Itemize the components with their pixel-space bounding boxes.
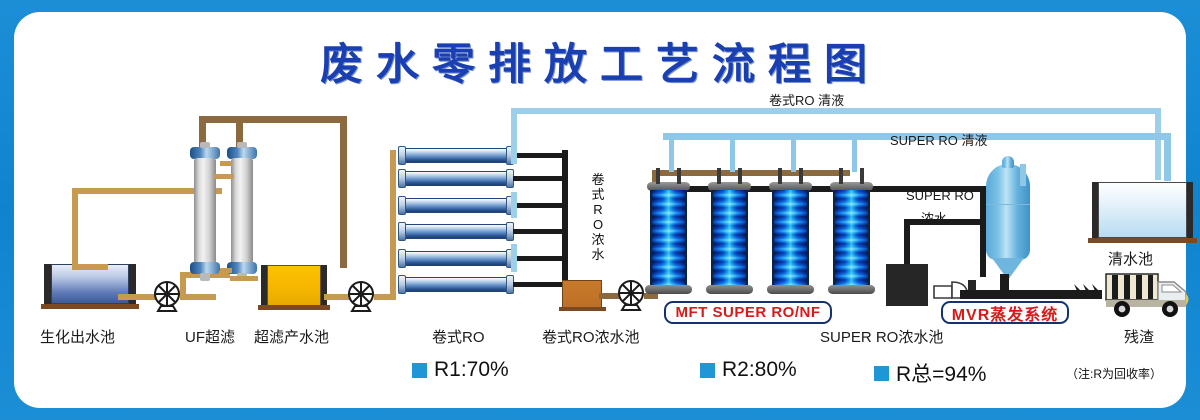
ro-endcap-left-5 [398,249,406,268]
legend-swatch-r2 [700,363,715,378]
uf-column-1-body [194,158,216,264]
feed-pipe-ro-riser [390,150,396,300]
dt-stack-1-port-right [677,168,681,184]
clear-tank-wall-right [1186,182,1193,240]
arrow-to-truck-icon [1072,282,1102,300]
ro-permeate-collector-2 [511,192,517,218]
uf-recycle-pipe-drop [72,188,78,270]
super-ro-brine-tank-body [886,264,928,306]
ro-brine-branch-5 [513,256,565,261]
pump-icon-3 [614,279,648,311]
pipe-label-super-ro-permeate: SUPER RO 清液 [890,130,988,149]
pump-icon-1 [150,280,184,312]
label-uf-product-water-tank: 超滤产水池 [254,326,329,347]
dt-stack-4-port-right [860,168,864,184]
dt-stack-2-body [711,190,748,286]
dt-permeate-riser-4 [852,138,857,172]
uf-product-water-tank-body [267,265,321,306]
callout-mvr-evaporator: MVR蒸发系统 [941,301,1069,324]
ro-brine-manifold-vertical [562,150,568,290]
dt-membrane-stack-4 [830,182,873,294]
dt-stack-3-port-left [778,168,782,184]
dt-membrane-stack-2 [708,182,751,294]
super-ro-brine-line-down [904,219,910,265]
dt-stack-1-body [650,190,687,286]
ro-permeate-collector-3 [511,244,517,272]
legend-label-rtotal: R总=94% [896,358,986,388]
bio-tank-base [41,304,139,309]
ro-vessel-3 [400,198,512,213]
uf-column-1-top-neck [200,142,210,148]
dt-permeate-riser-3 [791,138,796,172]
ro-endcap-left-4 [398,222,406,241]
label-uf-ultrafiltration: UF超滤 [185,326,235,347]
uf-column-2-top-neck [237,142,247,148]
dt-permeate-riser-1 [669,138,674,172]
dt-stack-4-body [833,190,870,286]
page-title: 废水零排放工艺流程图 [14,30,1186,92]
pipe-label-super-ro-brine-1: SUPER RO [906,188,974,203]
legend: R1:70% R2:80% R总=94% （注:R为回收率） [14,358,1186,386]
dt-membrane-stack-1 [647,182,690,294]
uf-product-tank-base [258,305,330,310]
mvr-distillate-riser [1020,164,1026,186]
uf-side-connector-bottom-1 [220,268,232,273]
spiral-ro-brine-tank-base [559,307,606,311]
clear-water-tank-body [1098,182,1187,238]
diagram-panel: 废水零排放工艺流程图 卷式RO 清液 SUPER RO 清液 生化出水池 [14,12,1186,408]
label-residue: 残渣 [1124,326,1154,347]
ro-brine-branch-4 [513,229,565,234]
label-spiral-ro-brine-tank: 卷式RO浓水池 [542,326,640,347]
super-ro-permeate-riser-right [1164,133,1171,181]
pipe-label-spiral-ro-brine-vertical: 卷式RO浓水 [590,172,606,262]
dt-stack-2-port-right [738,168,742,184]
ro-brine-branch-3 [513,203,565,208]
ro-endcap-left-3 [398,196,406,215]
legend-item-r1: R1:70% [412,358,509,382]
clear-tank-base [1088,238,1197,243]
ro-brine-branch-6 [513,282,565,287]
dt-stack-2-port-left [717,168,721,184]
uf-side-connector-top-2 [214,174,234,179]
ro-vessel-1 [400,148,512,163]
label-super-ro-brine-tank: SUPER RO浓水池 [820,326,943,347]
flow-diagram-stage: 废水零排放工艺流程图 卷式RO 清液 SUPER RO 清液 生化出水池 [14,12,1186,408]
dt-stack-1-port-left [656,168,660,184]
legend-label-r2: R2:80% [722,358,797,382]
uf-column-1-bottom-neck [200,273,210,281]
callout-mft-super-ro: MFT SUPER RO/NF [664,301,832,324]
dt-stack-3-foot [767,285,814,294]
uf-recycle-pipe-to-tank [72,264,108,270]
mvr-discharge-riser [1000,274,1009,296]
dt-membrane-stack-3 [769,182,812,294]
label-bio-effluent-tank: 生化出水池 [40,326,115,347]
legend-item-rtotal: R总=94% [874,358,986,388]
ro-brine-branch-1 [513,153,565,158]
uf-top-riser-to-product-tank [340,116,347,268]
diagram-frame: 废水零排放工艺流程图 卷式RO 清液 SUPER RO 清液 生化出水池 [0,0,1200,420]
mvr-evaporator-seam [986,204,1030,205]
legend-swatch-r1 [412,363,427,378]
dt-permeate-riser-2 [730,138,735,172]
ro-permeate-collector-1 [511,142,517,164]
residue-truck-icon [1102,270,1200,318]
ro-brine-branch-2 [513,176,565,181]
ro-endcap-left-1 [398,146,406,165]
ro-vessel-6 [400,277,512,292]
legend-label-r1: R1:70% [434,358,509,382]
pump-icon-2 [344,280,378,312]
dt-stack-3-body [772,190,809,286]
uf-side-connector-top-1 [220,161,232,166]
dt-feed-header [652,170,850,176]
ro-endcap-left-2 [398,169,406,188]
uf-top-header-pipe [199,116,347,123]
legend-note: （注:R为回收率） [1066,365,1162,382]
mvr-evaporator-top-nozzle [1002,156,1014,168]
uf-column-2-body [231,158,253,264]
uf-product-tank-wall-right [320,265,327,307]
ro-vessel-2 [400,171,512,186]
ro-vessel-5 [400,251,512,266]
dt-stack-4-port-left [839,168,843,184]
dt-stack-3-port-right [799,168,803,184]
legend-swatch-rtotal [874,366,889,381]
legend-item-r2: R2:80% [700,358,797,382]
label-clear-water-tank: 清水池 [1108,248,1153,269]
pipe-label-super-ro-brine-2: 浓水 [921,208,947,227]
spiral-ro-brine-tank-body [562,280,602,308]
label-spiral-ro: 卷式RO [432,326,485,347]
spiral-ro-permeate-riser-right [1155,108,1161,180]
dt-stack-1-foot [645,285,692,294]
ro-endcap-left-6 [398,275,406,294]
uf-side-connector-bottom-2 [230,276,258,281]
dt-stack-4-foot [828,285,875,294]
dt-stack-2-foot [706,285,753,294]
pipe-label-spiral-ro-permeate: 卷式RO 清液 [769,90,844,109]
ro-vessel-4 [400,224,512,239]
